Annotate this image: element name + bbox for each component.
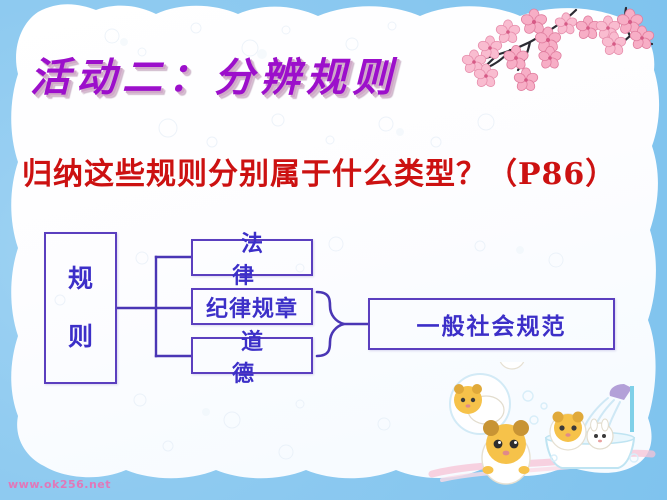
slide-canvas: 活动二：分辨规则 归纳这些规则分别属于什么类型？（P86） 规 则 法 律 纪律… [0,0,667,500]
brace-connector [317,292,368,356]
diagram-connectors [0,0,667,500]
watermark: www.ok256.net [8,478,111,491]
